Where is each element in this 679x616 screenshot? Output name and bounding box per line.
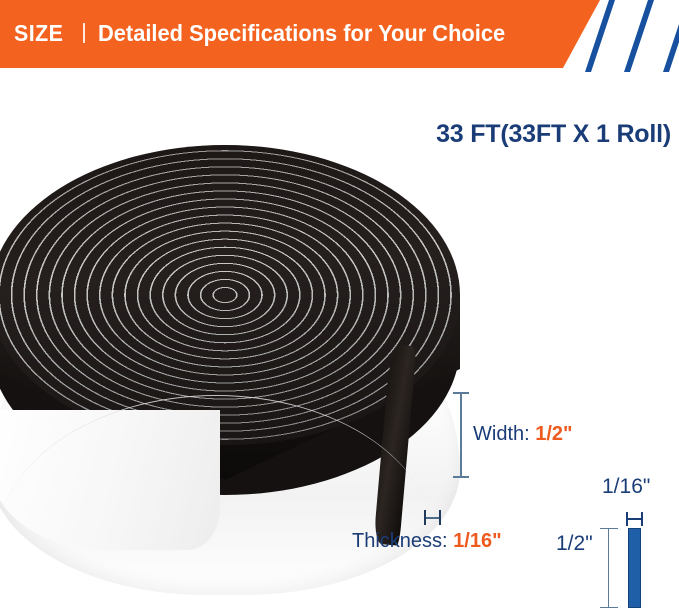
cross-section-diagram: 1/16" 1/2"	[555, 470, 679, 616]
thickness-marker-tick-left	[424, 510, 426, 525]
thickness-marker-tick-right	[439, 510, 441, 525]
header-banner: SIZE Detailed Specifications for Your Ch…	[0, 0, 679, 72]
banner-size-tag: SIZE	[14, 20, 63, 47]
thickness-annotation: Thickness: 1/16"	[352, 530, 502, 553]
banner-subtitle: Detailed Specifications for Your Choice	[98, 20, 505, 47]
width-label: Width:	[473, 423, 535, 445]
width-dimension-line	[460, 392, 462, 478]
banner-divider	[83, 23, 85, 43]
schematic-tape-bar	[628, 528, 641, 608]
product-spec-image: SIZE Detailed Specifications for Your Ch…	[0, 0, 679, 616]
width-annotation: Width: 1/2"	[473, 423, 573, 446]
schematic-marker-tick-right	[641, 512, 643, 526]
banner-title: SIZE Detailed Specifications for Your Ch…	[14, 16, 527, 50]
width-value: 1/2"	[535, 423, 572, 445]
product-photo	[0, 145, 490, 585]
thickness-value: 1/16"	[453, 530, 501, 552]
schematic-marker-tick-left	[626, 512, 628, 526]
schematic-width-dimension-line	[608, 528, 609, 608]
banner-stripe-3-icon	[663, 0, 679, 72]
schematic-thickness-label: 1/16"	[602, 475, 650, 499]
schematic-width-label: 1/2"	[556, 532, 593, 556]
thickness-label: Thickness:	[352, 530, 453, 552]
thickness-dimension-marker	[424, 510, 441, 525]
schematic-thickness-marker	[626, 512, 643, 526]
banner-stripe-2-icon	[624, 0, 654, 72]
